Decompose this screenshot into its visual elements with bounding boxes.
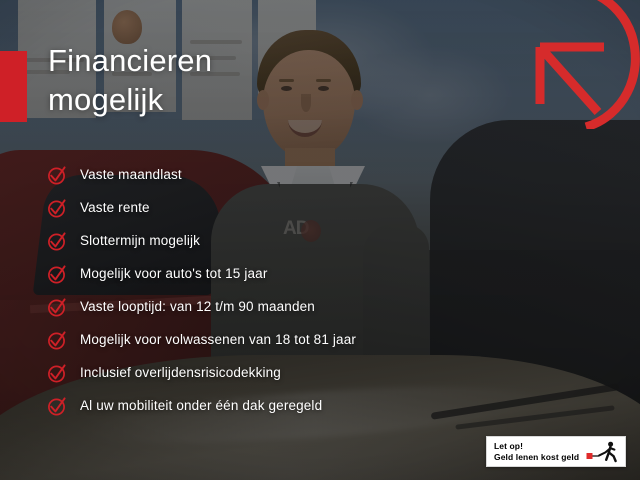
check-circle-icon	[46, 230, 68, 252]
list-item-label: Mogelijk voor auto's tot 15 jaar	[80, 266, 267, 281]
list-item: Al uw mobiliteit onder één dak geregeld	[46, 389, 466, 422]
warning-line-2: Geld lenen kost geld	[494, 452, 579, 462]
check-circle-icon	[46, 329, 68, 351]
circular-arrow-icon	[520, 0, 640, 129]
list-item-label: Vaste rente	[80, 200, 150, 215]
list-item: Vaste rente	[46, 191, 466, 224]
check-circle-icon	[46, 395, 68, 417]
accent-bar	[0, 51, 27, 122]
check-circle-icon	[46, 263, 68, 285]
list-item-label: Inclusief overlijdensrisicodekking	[80, 365, 281, 380]
list-item: Vaste maandlast	[46, 158, 466, 191]
list-item-label: Vaste maandlast	[80, 167, 182, 182]
check-circle-icon	[46, 296, 68, 318]
list-item-label: Slottermijn mogelijk	[80, 233, 200, 248]
list-item: Mogelijk voor volwassenen van 18 tot 81 …	[46, 323, 466, 356]
check-circle-icon	[46, 197, 68, 219]
page-title: Financieren mogelijk	[48, 41, 378, 119]
list-item-label: Al uw mobiliteit onder één dak geregeld	[80, 398, 322, 413]
check-circle-icon	[46, 362, 68, 384]
list-item: Slottermijn mogelijk	[46, 224, 466, 257]
warning-line-1: Let op!	[494, 441, 523, 451]
warning-badge-text: Let op!Geld lenen kost geld	[487, 441, 579, 463]
list-item-label: Vaste looptijd: van 12 t/m 90 maanden	[80, 299, 315, 314]
list-item: Vaste looptijd: van 12 t/m 90 maanden	[46, 290, 466, 323]
walking-person-dragging-block-icon	[586, 441, 620, 463]
list-item: Mogelijk voor auto's tot 15 jaar	[46, 257, 466, 290]
check-circle-icon	[46, 164, 68, 186]
list-item: Inclusief overlijdensrisicodekking	[46, 356, 466, 389]
list-item-label: Mogelijk voor volwassenen van 18 tot 81 …	[80, 332, 356, 347]
banner-content: Financieren mogelijk Vaste maandlast	[0, 0, 640, 480]
feature-list: Vaste maandlast Vaste rente	[46, 158, 466, 422]
financing-banner: AD Financieren mogelijk	[0, 0, 640, 480]
status-badge: Let op!Geld lenen kost geld	[486, 436, 626, 467]
